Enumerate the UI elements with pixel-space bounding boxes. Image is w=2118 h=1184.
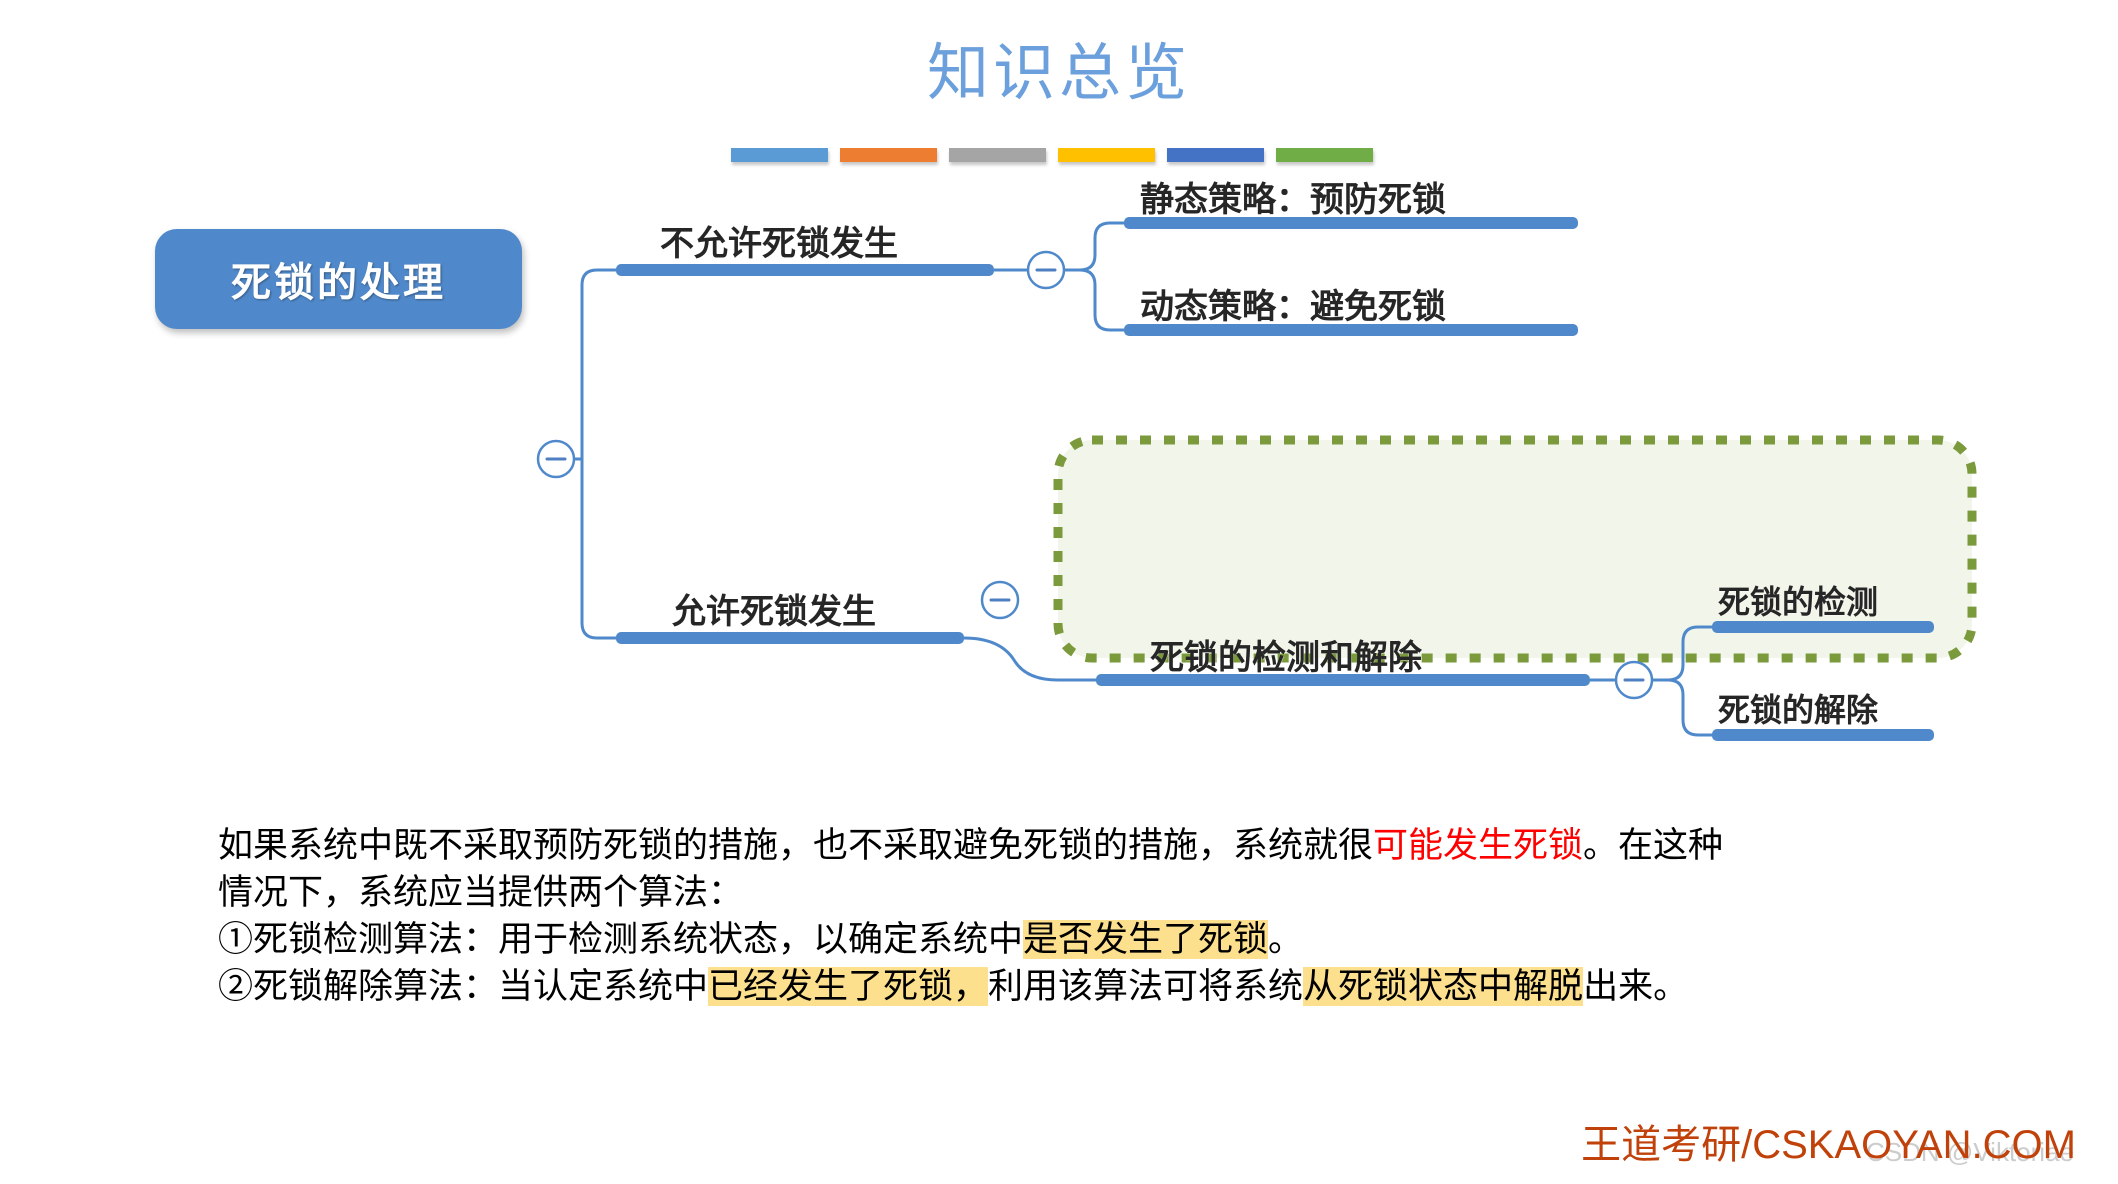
color-bar-orange	[840, 148, 937, 162]
body-line-2: 情况下，系统应当提供两个算法：	[218, 869, 1978, 916]
collapse-icon-detect-release[interactable]	[1616, 662, 1652, 698]
body-line-4-highlight-1: 已经发生了死锁，	[708, 967, 988, 1006]
body-line-1: 如果系统中既不采取预防死锁的措施，也不采取避免死锁的措施，系统就很可能发生死锁。…	[218, 822, 1978, 869]
collapse-icon-no-deadlock[interactable]	[1028, 252, 1064, 288]
body-line-3: ①死锁检测算法：用于检测系统状态，以确定系统中是否发生了死锁。	[218, 916, 1978, 963]
body-line-3-highlight: 是否发生了死锁	[1023, 920, 1268, 959]
color-bar-blue	[731, 148, 828, 162]
color-bar-green	[1276, 148, 1373, 162]
body-line-4: ②死锁解除算法：当认定系统中已经发生了死锁，利用该算法可将系统从死锁状态中解脱出…	[218, 963, 1978, 1010]
body-line-4a: ②死锁解除算法：当认定系统中	[218, 967, 708, 1006]
body-line-4c: 出来。	[1583, 967, 1688, 1006]
mindmap-node-release[interactable]: 死锁的解除	[1718, 685, 1878, 731]
color-bar-yellow	[1058, 148, 1155, 162]
mindmap-root-node[interactable]: 死锁的处理	[155, 229, 522, 329]
underline-bar-allow-deadlock	[616, 632, 964, 644]
mindmap-node-static-strategy[interactable]: 静态策略：预防死锁	[1140, 172, 1446, 221]
footer-brand: 王道考研/CSKAOYAN.COM	[1581, 1112, 2076, 1170]
body-paragraph: 如果系统中既不采取预防死锁的措施，也不采取避免死锁的措施，系统就很可能发生死锁。…	[218, 822, 1978, 1010]
mindmap-node-detection[interactable]: 死锁的检测	[1718, 577, 1878, 623]
body-line-4-highlight-2: 从死锁状态中解脱	[1303, 967, 1583, 1006]
mindmap-node-detect-and-release[interactable]: 死锁的检测和解除	[1150, 630, 1422, 679]
mindmap-node-allow-deadlock[interactable]: 允许死锁发生	[672, 584, 876, 633]
body-line-3b: 。	[1268, 920, 1303, 959]
body-line-1a: 如果系统中既不采取预防死锁的措施，也不采取避免死锁的措施，系统就很	[218, 826, 1373, 865]
color-bar-strip	[731, 148, 1373, 162]
collapse-icon-root[interactable]	[538, 441, 574, 477]
body-line-3a: ①死锁检测算法：用于检测系统状态，以确定系统中	[218, 920, 1023, 959]
mindmap-root-label: 死锁的处理	[231, 250, 446, 308]
collapse-icon-allow-deadlock[interactable]	[982, 582, 1018, 618]
body-line-1-red: 可能发生死锁	[1373, 826, 1583, 865]
mindmap-node-dynamic-strategy[interactable]: 动态策略：避免死锁	[1140, 279, 1446, 328]
color-bar-gray	[949, 148, 1046, 162]
body-line-1b: 。在这种	[1583, 826, 1723, 865]
page-title: 知识总览	[0, 40, 2118, 108]
underline-bar-no-deadlock	[616, 264, 994, 276]
color-bar-darkblue	[1167, 148, 1264, 162]
mindmap-node-no-deadlock[interactable]: 不允许死锁发生	[660, 216, 898, 265]
body-line-4b: 利用该算法可将系统	[988, 967, 1303, 1006]
